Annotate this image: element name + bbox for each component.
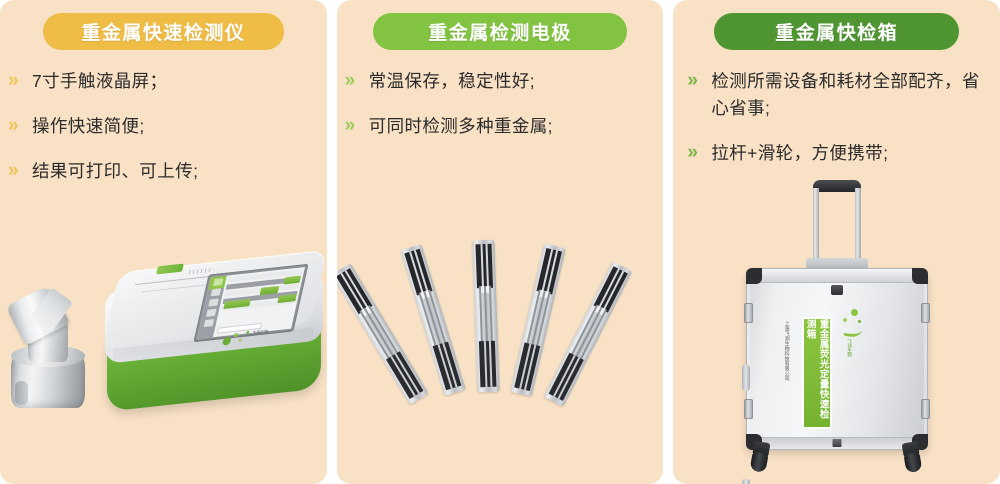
electrode-head	[536, 248, 561, 294]
electrode-trace	[489, 286, 493, 346]
case-corner-protector	[746, 268, 762, 284]
sidebar-icon-list[interactable]	[210, 288, 221, 296]
wheel-tire	[903, 452, 922, 473]
case-product-label: 重金属荧光定量快速检测箱	[802, 317, 832, 429]
electrode-trace	[484, 286, 488, 346]
case-frame-top	[747, 269, 927, 283]
sidebar-icon-user[interactable]	[205, 309, 216, 317]
trolley-handle-grip	[813, 180, 861, 192]
electrode-contact	[386, 351, 423, 399]
electrode-trace	[363, 308, 396, 360]
electrode-head	[404, 249, 432, 296]
product-image-rapid-test-case: 重金属荧光定量快速检测箱 飞测生物 上海飞测生物科技有限公司	[673, 0, 1000, 484]
case-latch[interactable]	[921, 399, 930, 419]
case-brand-logo: 飞测生物	[839, 309, 869, 353]
case-latch[interactable]	[744, 303, 753, 323]
wheel-tire	[749, 451, 768, 472]
case-corner-protector	[912, 268, 928, 284]
product-image-rapid-detector: 飞测生物	[0, 0, 327, 484]
case-latch[interactable]	[744, 399, 753, 419]
case-side-hinge	[742, 365, 750, 391]
case-lock[interactable]	[831, 285, 843, 295]
case-label-text: 重金属荧光定量快速检测箱	[804, 319, 830, 427]
electrode-head	[475, 244, 493, 289]
case-body: 重金属荧光定量快速检测箱 飞测生物 上海飞测生物科技有限公司	[746, 268, 928, 450]
logo-dot-icon	[851, 309, 858, 316]
sidebar-icon-chart[interactable]	[208, 299, 219, 307]
clamp-slot	[15, 381, 28, 405]
sidebar-icon-settings[interactable]	[203, 319, 214, 327]
panel-heavy-metal-rapid-test-case: 重金属快检箱 » 检测所需设备和耗材全部配齐，省心省事; » 拉杆+滑轮，方便携…	[673, 0, 1000, 484]
electrode-strip	[472, 240, 499, 393]
logo-swoosh-icon	[843, 322, 862, 338]
trolley-case: 重金属荧光定量快速检测箱 飞测生物 上海飞测生物科技有限公司	[744, 180, 930, 480]
electrode-contact	[514, 343, 540, 391]
case-latch[interactable]	[921, 303, 930, 323]
analyzer-device: 飞测生物	[105, 262, 325, 417]
electrode-clamp-accessory	[6, 283, 98, 415]
electrode-contact	[432, 342, 461, 391]
case-company-text: 上海飞测生物科技有限公司	[783, 321, 790, 381]
case-side-hinge	[742, 479, 750, 484]
case-foot	[832, 439, 841, 447]
electrode-trace	[479, 286, 483, 346]
electrode-contact	[479, 341, 497, 388]
product-image-detection-electrodes	[337, 0, 664, 484]
sidebar-icon-home[interactable]	[212, 278, 223, 286]
product-feature-board: 重金属快速检测仪 » 7寸手触液晶屏； » 操作快速简便; » 结果可打印、可上…	[0, 0, 1000, 484]
case-brand-text: 飞测生物	[847, 339, 853, 357]
panel-heavy-metal-detection-electrode: 重金属检测电极 » 常温保存，稳定性好; » 可同时检测多种重金属;	[337, 0, 664, 484]
electrode-contact	[548, 353, 583, 401]
electrode-trace	[573, 307, 602, 361]
panel-heavy-metal-rapid-detector: 重金属快速检测仪 » 7寸手触液晶屏； » 操作快速简便; » 结果可打印、可上…	[0, 0, 327, 484]
